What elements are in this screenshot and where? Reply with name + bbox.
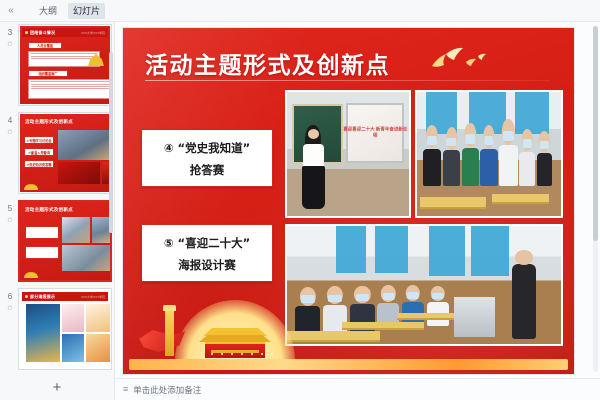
slide-thumbnail-5[interactable]: 活动主题形式及创新点	[18, 200, 112, 282]
mini-slide: 部分海报展示 XXX大学XXX学院	[20, 290, 110, 368]
decoration-base-bar	[129, 359, 568, 370]
slide-bottom-decoration	[123, 298, 574, 374]
projector-screen-text: 喜迎喜迎二十大 新青年奋进新征程	[341, 126, 409, 139]
textbox-item-4[interactable]: ④ “党史我知道” 抢答赛	[141, 129, 273, 187]
editor-body: 3 ✩ 团结奋斗情况 XXX大学XXX学院 人员全覆盖	[0, 22, 600, 400]
thumbnail-row[interactable]: 4 ✩ 活动主题形式及创新点 ①专题学习讨论会 ②重温入党誓词 ③党史知识竞	[0, 110, 114, 198]
mini-poster	[86, 334, 110, 362]
tab-outline[interactable]: 大纲	[34, 3, 62, 19]
mini-title-bar: 活动主题形式及创新点	[22, 117, 108, 126]
desk	[420, 197, 486, 208]
thumbnail-row[interactable]: 3 ✩ 团结奋斗情况 XXX大学XXX学院 人员全覆盖	[0, 22, 114, 110]
thumbnail-meta: 6 ✩	[2, 288, 18, 314]
mini-title-bar: 部分海报展示 XXX大学XXX学院	[22, 292, 108, 301]
mini-textbox	[25, 246, 59, 259]
textbox-line-1: ⑤ “喜迎二十大”	[164, 236, 250, 250]
thumbnail-preview: 活动主题形式及创新点	[20, 202, 110, 280]
textbox-line-1: ④ “党史我知道”	[164, 141, 250, 155]
powerpoint-editor-window: « 大纲 幻灯片 3 ✩	[0, 0, 600, 400]
notes-bar[interactable]: ≡ 单击此处添加备注	[115, 378, 600, 400]
mini-poster	[62, 334, 84, 362]
mini-photo	[92, 217, 110, 243]
monument-icon	[165, 310, 174, 356]
star-icon[interactable]: ✩	[2, 40, 18, 50]
mini-photo	[62, 217, 90, 243]
thumbnail-meta: 3 ✩	[2, 24, 18, 50]
mini-slide: 团结奋斗情况 XXX大学XXX学院 人员全覆盖 组织覆盖面广	[20, 26, 110, 104]
mini-poster	[62, 304, 84, 332]
add-slide-button[interactable]: +	[0, 374, 114, 400]
mini-tag: ①专题学习讨论会	[24, 136, 54, 144]
photo-students-standing[interactable]	[415, 90, 563, 218]
current-slide[interactable]: 活动主题形式及创新点 ④ “党史我知道” 抢答赛	[123, 28, 574, 374]
slide-canvas-pane: 活动主题形式及创新点 ④ “党史我知道” 抢答赛	[115, 22, 600, 400]
mini-textbox	[25, 226, 59, 239]
mini-slide: 活动主题形式及创新点	[20, 202, 110, 280]
textbox-item-5-content: ⑤ “喜迎二十大” 海报设计赛	[164, 231, 250, 274]
thumbnail-meta: 4 ✩	[2, 112, 18, 138]
thumbnail-row[interactable]: 5 ✩ 活动主题形式及创新点	[0, 198, 114, 286]
view-tab-group: 大纲 幻灯片	[34, 3, 105, 19]
mini-poster	[26, 304, 60, 362]
desk	[492, 194, 550, 204]
slide-thumbnail-4[interactable]: 活动主题形式及创新点 ①专题学习讨论会 ②重温入党誓词 ③党史知识竞答赛	[18, 112, 112, 194]
slide-number: 3	[2, 28, 18, 37]
slide-number: 4	[2, 116, 18, 125]
gate-roof	[203, 328, 267, 336]
mini-text-block	[28, 79, 110, 99]
bullet-icon	[25, 295, 28, 298]
gate-roof-lower	[199, 335, 271, 342]
title-divider	[145, 80, 550, 81]
mini-title-bar: 团结奋斗情况 XXX大学XXX学院	[22, 28, 108, 37]
slide-thumbnail-3[interactable]: 团结奋斗情况 XXX大学XXX学院 人员全覆盖 组织覆盖面广	[18, 24, 112, 106]
star-icon[interactable]: ✩	[2, 128, 18, 138]
notes-icon: ≡	[123, 385, 128, 394]
thumbnail-preview: 活动主题形式及创新点 ①专题学习讨论会 ②重温入党誓词 ③党史知识竞答赛	[20, 114, 110, 192]
mini-title-bar: 活动主题形式及创新点	[22, 205, 108, 214]
mini-tag: ③党史知识竞答赛	[24, 160, 54, 168]
slide-thumbnail-list[interactable]: 3 ✩ 团结奋斗情况 XXX大学XXX学院 人员全覆盖	[0, 22, 114, 374]
slide-number: 5	[2, 204, 18, 213]
slide-thumbnail-6[interactable]: 部分海报展示 XXX大学XXX学院	[18, 288, 112, 370]
teacher-blouse	[303, 144, 324, 169]
mini-slide: 活动主题形式及创新点 ①专题学习讨论会 ②重温入党誓词 ③党史知识竞答赛	[20, 114, 110, 192]
textbox-line-2: 海报设计赛	[178, 258, 236, 272]
textbox-line-2: 抢答赛	[190, 163, 225, 177]
collapse-panel-icon[interactable]: «	[0, 0, 22, 22]
mini-title-right: XXX大学XXX学院	[81, 295, 105, 299]
mini-tag: 组织覆盖面广	[28, 70, 68, 77]
canvas-scrollbar-thumb[interactable]	[593, 26, 598, 241]
dove-icon	[416, 44, 496, 80]
mini-title: 活动主题形式及创新点	[25, 119, 73, 125]
mini-photo	[58, 162, 100, 184]
notes-placeholder[interactable]: 单击此处添加备注	[133, 384, 201, 396]
textbox-item-4-content: ④ “党史我知道” 抢答赛	[164, 136, 250, 179]
mini-title: 团结奋斗情况	[30, 30, 55, 36]
light-dots	[209, 350, 279, 358]
thumbnail-preview: 部分海报展示 XXX大学XXX学院	[20, 290, 110, 368]
photo-teacher-blackboard[interactable]: 喜迎喜迎二十大 新青年奋进新征程	[285, 90, 411, 218]
canvas-scrollbar[interactable]	[593, 26, 598, 372]
bullet-icon	[25, 31, 28, 34]
star-icon[interactable]: ✩	[2, 304, 18, 314]
curtain	[336, 226, 366, 273]
view-toolbar: « 大纲 幻灯片	[0, 0, 600, 22]
thumbnail-scrollbar[interactable]	[109, 24, 113, 372]
mini-tag: 人员全覆盖	[28, 42, 62, 49]
mini-landmark-icon	[24, 184, 38, 190]
thumbnail-preview: 团结奋斗情况 XXX大学XXX学院 人员全覆盖 组织覆盖面广	[20, 26, 110, 104]
mini-photo	[58, 130, 110, 160]
mini-poster	[86, 304, 110, 332]
thumbnail-row[interactable]: 6 ✩ 部分海报展示 XXX大学XXX学院	[0, 286, 114, 374]
mini-title: 部分海报展示	[30, 294, 55, 300]
curtain	[429, 226, 465, 276]
textbox-item-5[interactable]: ⑤ “喜迎二十大” 海报设计赛	[141, 224, 273, 282]
thumbnail-scrollbar-thumb[interactable]	[109, 52, 113, 233]
mini-photo	[62, 245, 110, 271]
teacher-skirt	[302, 166, 325, 208]
curtain	[375, 226, 408, 273]
teacher-head	[308, 129, 319, 139]
curtain	[515, 92, 550, 134]
slide-title[interactable]: 活动主题形式及创新点	[145, 46, 390, 80]
mini-landmark-icon	[24, 272, 38, 278]
projector-screen: 喜迎喜迎二十大 新青年奋进新征程	[346, 103, 405, 163]
tab-slides[interactable]: 幻灯片	[68, 3, 105, 19]
star-icon[interactable]: ✩	[2, 216, 18, 226]
slide-thumbnail-panel: 3 ✩ 团结奋斗情况 XXX大学XXX学院 人员全覆盖	[0, 22, 115, 400]
thumbnail-meta: 5 ✩	[2, 200, 18, 226]
mini-tag: ②重温入党誓词	[24, 148, 54, 156]
mini-title: 活动主题形式及创新点	[25, 207, 73, 213]
curtain	[471, 226, 509, 276]
mini-title-right: XXX大学XXX学院	[81, 31, 105, 35]
slide-number: 6	[2, 292, 18, 301]
